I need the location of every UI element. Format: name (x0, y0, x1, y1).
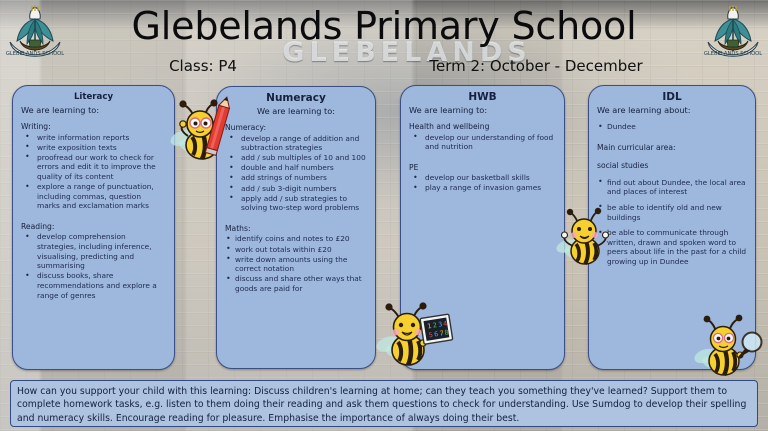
svg-text:GLEBELANDS SCHOOL: GLEBELANDS SCHOOL (6, 51, 64, 57)
list-item: write down amounts using the correct not… (225, 255, 367, 274)
literacy-writing-list: write information reports write expositi… (21, 133, 166, 211)
class-label: Class: P4 (88, 57, 318, 75)
list-item: Dundee (597, 122, 747, 132)
maths-list: identify coins and notes to £20 work out… (225, 234, 367, 293)
bee-with-magnifier-icon (694, 314, 764, 380)
list-item: double and half numbers (225, 163, 367, 173)
parent-support-footer: How can you support your child with this… (10, 380, 758, 427)
idl-topic-list: Dundee (597, 122, 747, 132)
panel-hwb-subtitle: We are learning to: (409, 105, 556, 116)
panel-literacy-subtitle: We are learning to: (21, 105, 166, 116)
list-item: write information reports (21, 133, 166, 143)
svg-text:GLEBELANDS SCHOOL: GLEBELANDS SCHOOL (704, 51, 762, 57)
list-item: discuss books, share recommendations and… (21, 271, 166, 300)
literacy-writing-heading: Writing: (21, 122, 166, 132)
idl-list: find out about Dundee, the local area an… (597, 178, 747, 267)
list-item: explore a range of punctuation, includin… (21, 182, 166, 211)
numeracy-heading: Numeracy: (225, 123, 367, 133)
numeracy-list: develop a range of addition and subtract… (225, 134, 367, 213)
list-item: add strings of numbers (225, 173, 367, 183)
list-item: apply add / sub strategies to solving tw… (225, 194, 367, 213)
list-item: be able to communicate through written, … (597, 228, 747, 266)
hwb-health-list: develop our understanding of food and nu… (409, 133, 556, 152)
idl-curricular-area: social studies (597, 161, 747, 171)
panel-numeracy-title: Numeracy (225, 92, 367, 105)
list-item: develop our basketball skills (409, 173, 556, 183)
panel-idl-title: IDL (597, 91, 747, 104)
panel-numeracy: Numeracy We are learning to: Numeracy: d… (216, 86, 376, 369)
maths-heading: Maths: (225, 224, 367, 234)
hwb-health-heading: Health and wellbeing (409, 122, 556, 132)
panel-literacy-title: Literacy (21, 91, 166, 104)
list-item: proofread our work to check for errors a… (21, 153, 166, 182)
panel-idl-subtitle: We are learning about: (597, 105, 747, 116)
list-item: find out about Dundee, the local area an… (597, 178, 747, 197)
list-item: discuss and share other ways that goods … (225, 274, 367, 293)
panel-numeracy-subtitle: We are learning to: (225, 106, 367, 117)
list-item: be able to identify old and new building… (597, 203, 747, 222)
list-item: work out totals within £20 (225, 245, 367, 255)
list-item: play a range of invasion games (409, 183, 556, 193)
bee-waving-icon (556, 206, 618, 270)
list-item: add / sub 3-digit numbers (225, 184, 367, 194)
hwb-pe-list: develop our basketball skills play a ran… (409, 173, 556, 193)
bee-with-pencil-icon (166, 96, 240, 166)
literacy-reading-heading: Reading: (21, 222, 166, 232)
page-header: GLEBELANDS SCHOOL GLEBELANDS SCHOOL Gleb… (0, 0, 768, 82)
list-item: identify coins and notes to £20 (225, 234, 367, 244)
term-label: Term 2: October - December (386, 57, 686, 75)
page-title: Glebelands Primary School (0, 3, 768, 49)
list-item: write exposition texts (21, 143, 166, 153)
list-item: develop comprehension strategies, includ… (21, 232, 166, 270)
list-item: develop a range of addition and subtract… (225, 134, 367, 153)
bee-with-number-card-icon: 1 2 3 4 5 6 7 8 (376, 300, 452, 372)
idl-curricular-heading: Main curricular area: (597, 143, 747, 153)
hwb-pe-heading: PE (409, 163, 556, 173)
literacy-reading-list: develop comprehension strategies, includ… (21, 232, 166, 300)
list-item: develop our understanding of food and nu… (409, 133, 556, 152)
list-item: add / sub multiples of 10 and 100 (225, 153, 367, 163)
panel-literacy: Literacy We are learning to: Writing: wr… (12, 85, 175, 370)
panel-hwb-title: HWB (409, 91, 556, 104)
